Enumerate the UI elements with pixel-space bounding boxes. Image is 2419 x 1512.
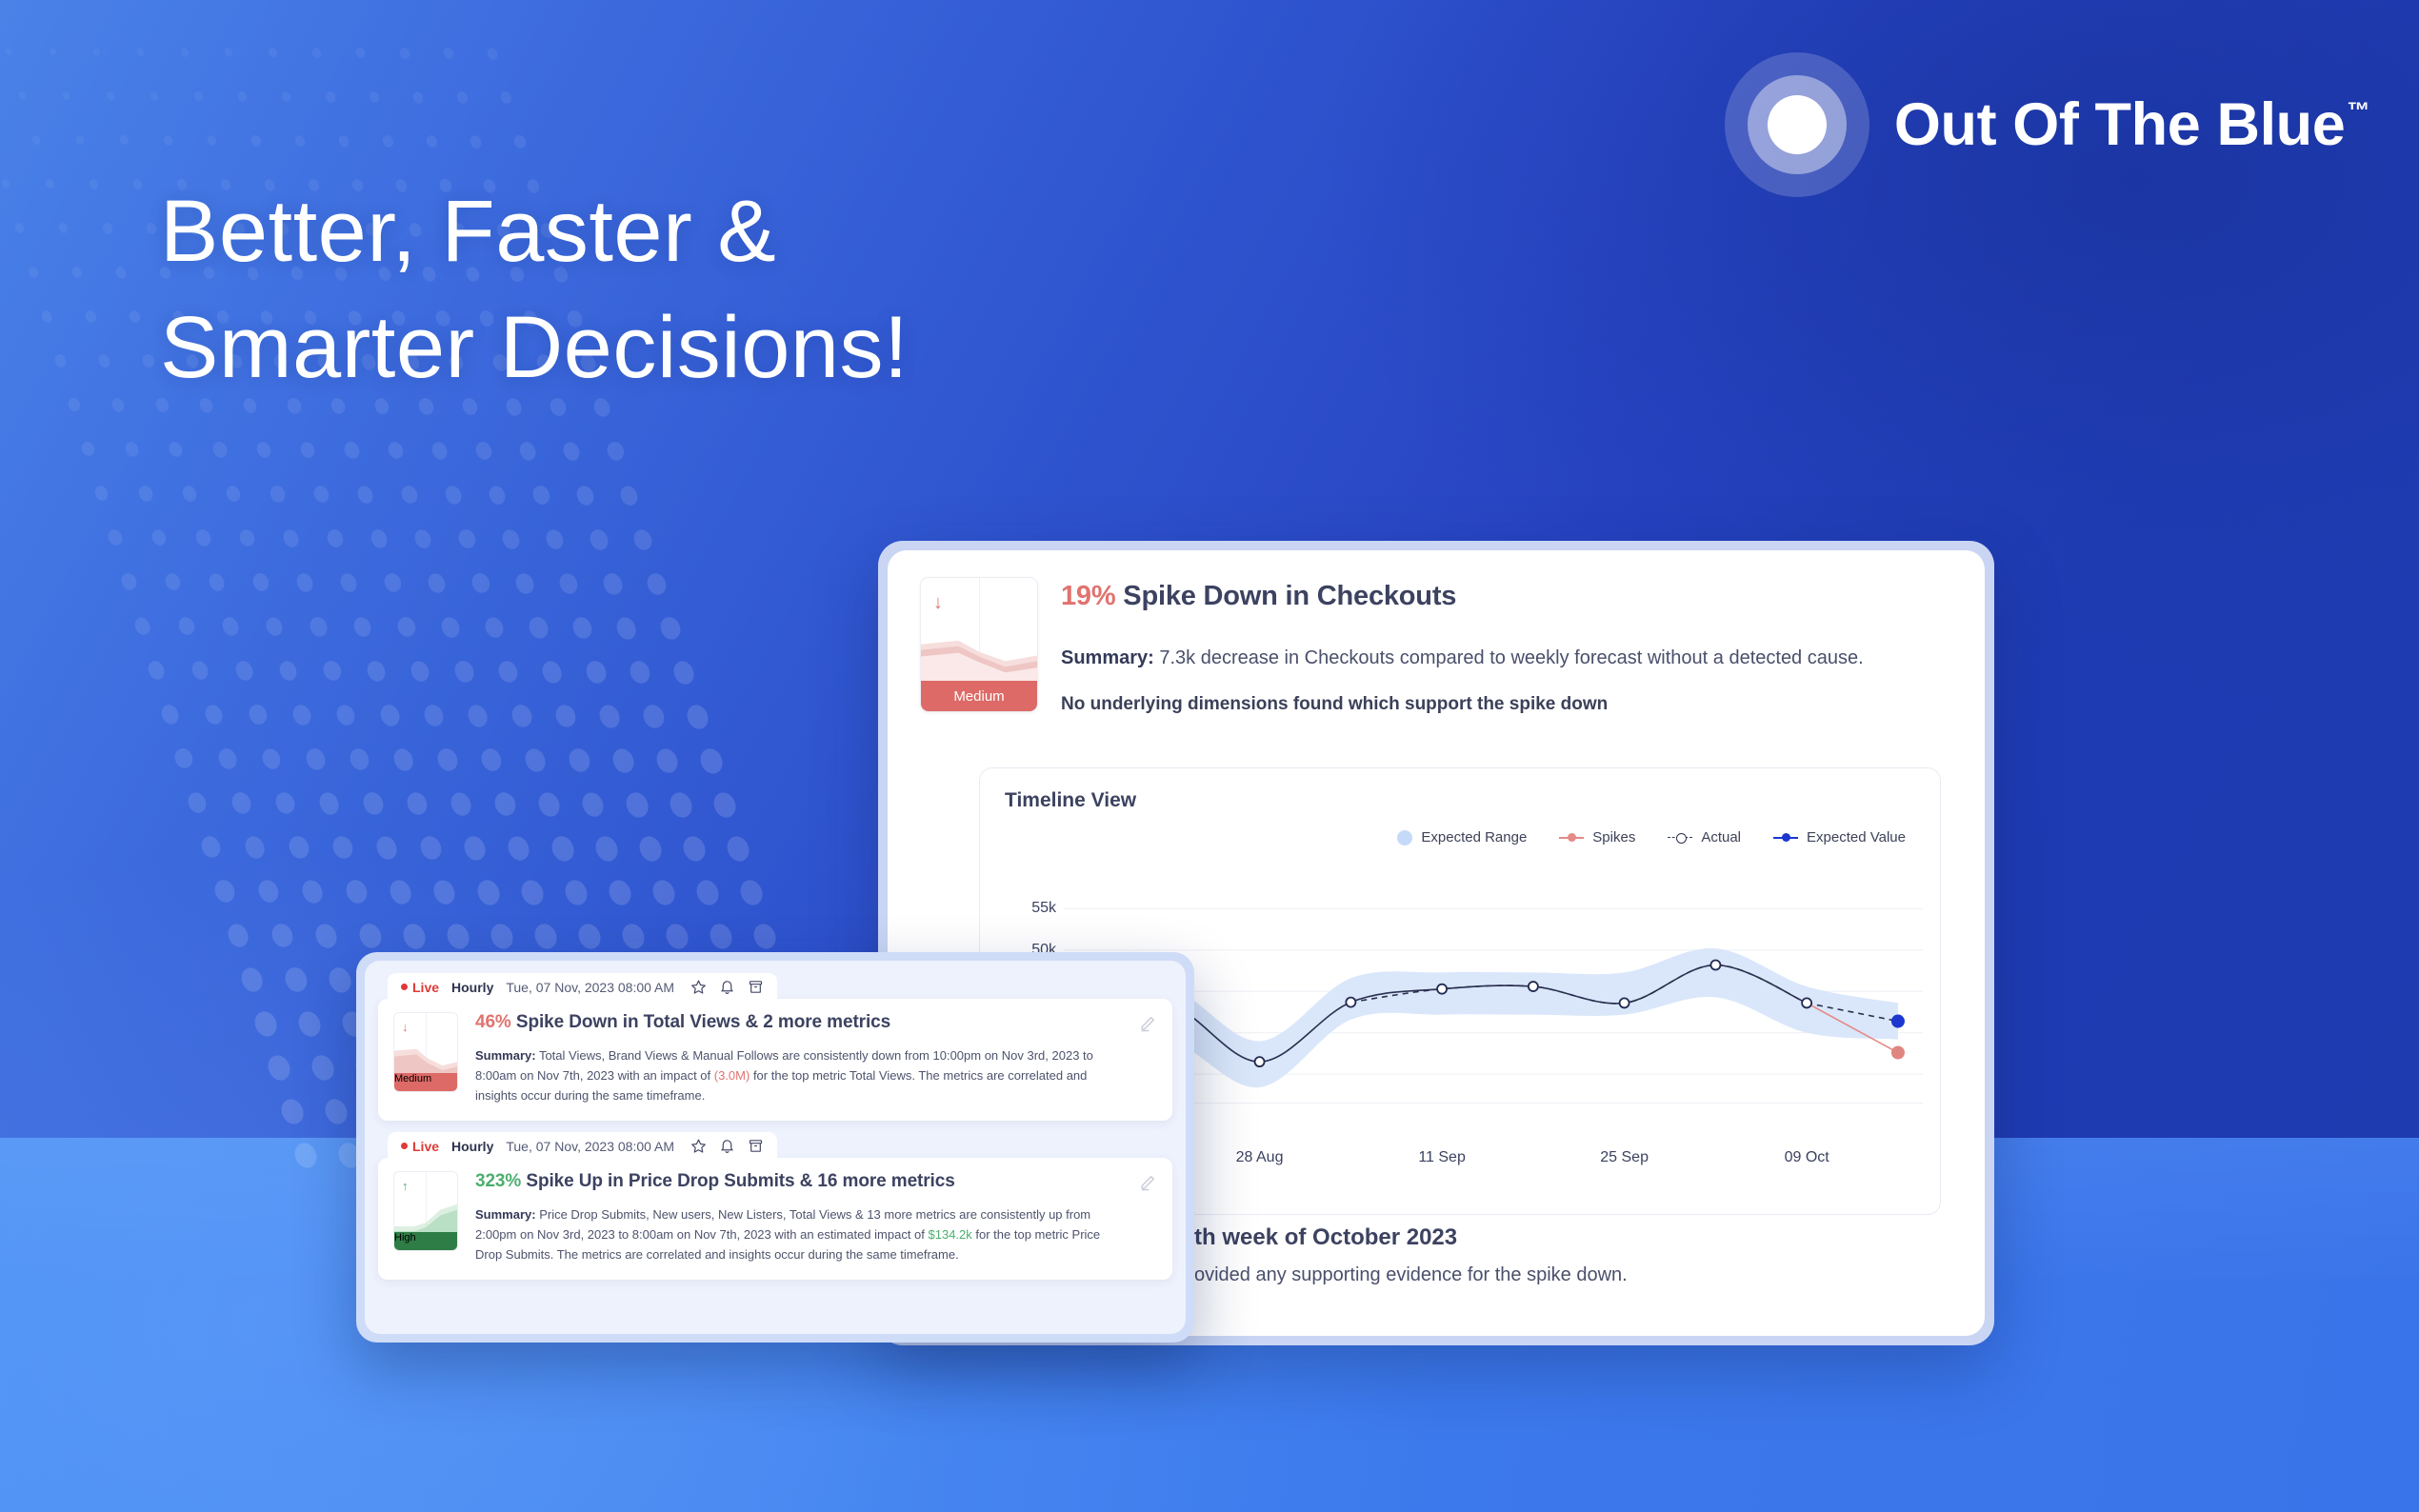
- hero-headline: Better, Faster & Smarter Decisions!: [160, 173, 909, 407]
- legend-item-expected-value[interactable]: Expected Value: [1773, 829, 1906, 846]
- trademark-symbol: ™: [2347, 98, 2369, 125]
- severity-badge: High: [394, 1232, 457, 1250]
- insight-card-body: ↑High323% Spike Up in Price Drop Submits…: [378, 1158, 1172, 1280]
- main-insight-body: 19% Spike Down in Checkouts Summary: 7.3…: [1061, 577, 1952, 715]
- pencil-icon[interactable]: [1138, 1014, 1157, 1038]
- insight-card-main: 323% Spike Up in Price Drop Submits & 16…: [475, 1171, 1155, 1264]
- card-actions: [690, 979, 764, 995]
- star-icon[interactable]: [690, 979, 707, 995]
- summary-impact-value: (3.0M): [714, 1068, 750, 1083]
- summary-label: Summary:: [1061, 647, 1154, 668]
- frequency-label: Hourly: [451, 1139, 493, 1154]
- archive-icon[interactable]: [748, 979, 764, 995]
- insight-feed-list: LiveHourlyTue, 07 Nov, 2023 08:00 AM↓Med…: [365, 961, 1186, 1334]
- insight-card-thumbnail: ↑High: [393, 1171, 458, 1251]
- main-insight-header: ↓ Medium 19% Spike Down in Checkouts Sum…: [920, 577, 1952, 715]
- expected-range-swatch-icon: [1397, 830, 1412, 846]
- logo-ring-inner: [1748, 75, 1847, 174]
- star-icon[interactable]: [690, 1138, 707, 1154]
- summary-label: Summary:: [475, 1207, 536, 1222]
- arrow-down-icon: ↓: [402, 1021, 409, 1033]
- legend-label: Spikes: [1592, 829, 1635, 846]
- live-label: Live: [412, 1139, 439, 1154]
- insight-card-thumbnail: ↓Medium: [393, 1012, 458, 1092]
- y-tick-label: 55k: [1031, 900, 1056, 917]
- arrow-up-icon: ↑: [402, 1180, 409, 1192]
- main-insight-summary: Summary: 7.3k decrease in Checkouts comp…: [1061, 644, 1952, 672]
- actual-swatch-icon: [1668, 837, 1692, 838]
- arrow-down-icon: ↓: [933, 593, 943, 612]
- insight-title-text: Spike Up in Price Drop Submits & 16 more…: [521, 1171, 954, 1191]
- brand-name-text: Out Of The Blue: [1894, 90, 2345, 159]
- x-tick-label: 25 Sep: [1600, 1149, 1649, 1166]
- live-dot-icon: [401, 984, 408, 990]
- live-status-badge: Live: [401, 980, 439, 995]
- live-dot-icon: [401, 1143, 408, 1149]
- legend-item-expected-range[interactable]: Expected Range: [1397, 829, 1527, 846]
- brand-name: Out Of The Blue ™: [1894, 90, 2369, 159]
- thumbnail-sparkline: [394, 1199, 457, 1236]
- chart-legend: Expected Range Spikes Actual Expected Va…: [1005, 829, 1915, 846]
- bell-icon[interactable]: [719, 979, 735, 995]
- x-tick-label: 09 Oct: [1785, 1149, 1829, 1166]
- brand-logo: Out Of The Blue ™: [1725, 52, 2369, 197]
- chart-title: Timeline View: [1005, 789, 1915, 812]
- thumbnail-sparkline: [394, 1040, 457, 1077]
- insight-card-title: 46% Spike Down in Total Views & 2 more m…: [475, 1012, 1127, 1033]
- legend-item-actual[interactable]: Actual: [1668, 829, 1741, 846]
- main-insight-title: 19% Spike Down in Checkouts: [1061, 581, 1952, 612]
- pencil-icon[interactable]: [1138, 1173, 1157, 1197]
- timestamp-label: Tue, 07 Nov, 2023 08:00 AM: [506, 1139, 674, 1154]
- x-tick-label: 28 Aug: [1236, 1149, 1284, 1166]
- expected-value-swatch-icon: [1773, 837, 1798, 839]
- insight-card-chip: LiveHourlyTue, 07 Nov, 2023 08:00 AM: [388, 1132, 777, 1159]
- x-tick-label: 11 Sep: [1418, 1149, 1466, 1166]
- insight-card-summary: Summary: Total Views, Brand Views & Manu…: [475, 1045, 1127, 1105]
- summary-impact-value: $134.2k: [929, 1227, 972, 1242]
- bell-icon[interactable]: [719, 1138, 735, 1154]
- insight-card-body: ↓Medium46% Spike Down in Total Views & 2…: [378, 999, 1172, 1121]
- insight-card-summary: Summary: Price Drop Submits, New users, …: [475, 1204, 1127, 1264]
- insight-card-main: 46% Spike Down in Total Views & 2 more m…: [475, 1012, 1155, 1105]
- severity-badge: Medium: [921, 681, 1037, 711]
- thumbnail-sparkline: [921, 627, 1037, 682]
- timestamp-label: Tue, 07 Nov, 2023 08:00 AM: [506, 980, 674, 995]
- insight-card[interactable]: LiveHourlyTue, 07 Nov, 2023 08:00 AM↓Med…: [378, 973, 1172, 1121]
- card-actions: [690, 1138, 764, 1154]
- insight-thumbnail: ↓ Medium: [920, 577, 1038, 712]
- severity-badge: Medium: [394, 1073, 457, 1091]
- main-insight-note: No underlying dimensions found which sup…: [1061, 694, 1952, 715]
- insight-card[interactable]: LiveHourlyTue, 07 Nov, 2023 08:00 AM↑Hig…: [378, 1132, 1172, 1280]
- insight-percent: 19%: [1061, 581, 1115, 611]
- summary-label: Summary:: [475, 1048, 536, 1063]
- insight-percent: 46%: [475, 1012, 511, 1032]
- legend-item-spikes[interactable]: Spikes: [1559, 829, 1635, 846]
- insight-title-text: Spike Down in Checkouts: [1115, 581, 1456, 611]
- frequency-label: Hourly: [451, 980, 493, 995]
- spikes-swatch-icon: [1559, 837, 1584, 839]
- logo-core-dot: [1768, 95, 1827, 154]
- insight-percent: 323%: [475, 1171, 521, 1191]
- insight-feed-panel: LiveHourlyTue, 07 Nov, 2023 08:00 AM↓Med…: [356, 952, 1194, 1343]
- insight-card-chip: LiveHourlyTue, 07 Nov, 2023 08:00 AM: [388, 973, 777, 1000]
- legend-label: Actual: [1701, 829, 1741, 846]
- legend-label: Expected Value: [1807, 829, 1906, 846]
- insight-title-text: Spike Down in Total Views & 2 more metri…: [511, 1012, 890, 1032]
- archive-icon[interactable]: [748, 1138, 764, 1154]
- live-label: Live: [412, 980, 439, 995]
- live-status-badge: Live: [401, 1139, 439, 1154]
- legend-label: Expected Range: [1421, 829, 1527, 846]
- insight-card-title: 323% Spike Up in Price Drop Submits & 16…: [475, 1171, 1127, 1192]
- summary-text: 7.3k decrease in Checkouts compared to w…: [1154, 647, 1864, 668]
- concentric-circle-logo-icon: [1725, 52, 1869, 197]
